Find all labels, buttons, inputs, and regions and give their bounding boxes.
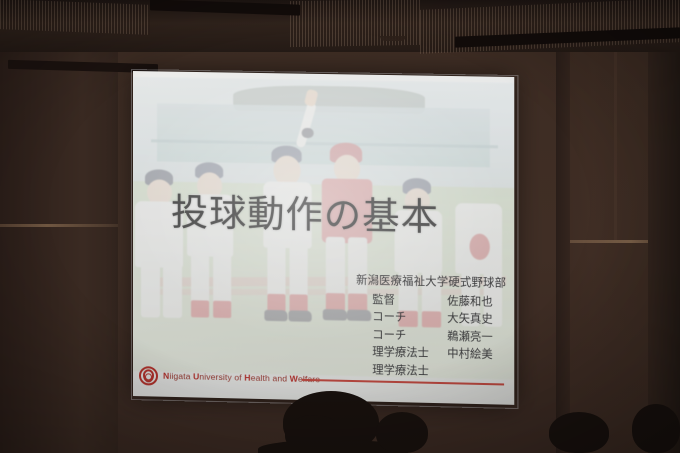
right-wall-column — [556, 0, 570, 453]
roster-role: 理学療法士 — [356, 343, 447, 363]
projection-screen: 投球動作の基本 新潟医療福祉大学硬式野球部 監督 佐藤和也 コーチ 大矢真史 コ… — [133, 71, 514, 405]
roster-name: 鵜瀬亮一 — [447, 328, 514, 347]
roster-name: 佐藤和也 — [447, 292, 514, 311]
lecture-hall-photo: 投球動作の基本 新潟医療福祉大学硬式野球部 監督 佐藤和也 コーチ 大矢真史 コ… — [0, 0, 680, 453]
audience-head-silhouette — [285, 415, 343, 453]
far-right-wall — [648, 0, 680, 453]
photo-stadium-stand — [157, 103, 490, 167]
audience-head-silhouette — [549, 412, 609, 453]
audience-head-silhouette — [376, 412, 428, 453]
left-wall — [0, 24, 118, 453]
roster-name: 大矢真史 — [447, 310, 514, 329]
university-name-text: Niigata University of Health and Welfare — [163, 371, 320, 385]
ceiling — [0, 0, 680, 52]
ceiling-panel — [0, 0, 150, 35]
roster-role: 監督 — [356, 290, 447, 310]
left-wall-trim — [0, 224, 118, 227]
roster-organization: 新潟医療福祉大学硬式野球部 — [356, 272, 514, 293]
roster-role: コーチ — [356, 308, 447, 328]
audience-head-silhouette — [632, 404, 680, 453]
ceiling-vent — [380, 36, 406, 41]
university-seal-icon — [139, 366, 158, 385]
ceiling-light-slot — [150, 0, 300, 16]
footer-rule — [302, 379, 504, 385]
slide-roster: 新潟医療福祉大学硬式野球部 監督 佐藤和也 コーチ 大矢真史 コーチ 鵜瀬亮一 … — [356, 272, 514, 383]
roster-role: コーチ — [356, 326, 447, 346]
roster-name: 中村絵美 — [447, 345, 514, 364]
slide-title: 投球動作の基本 — [171, 182, 439, 241]
